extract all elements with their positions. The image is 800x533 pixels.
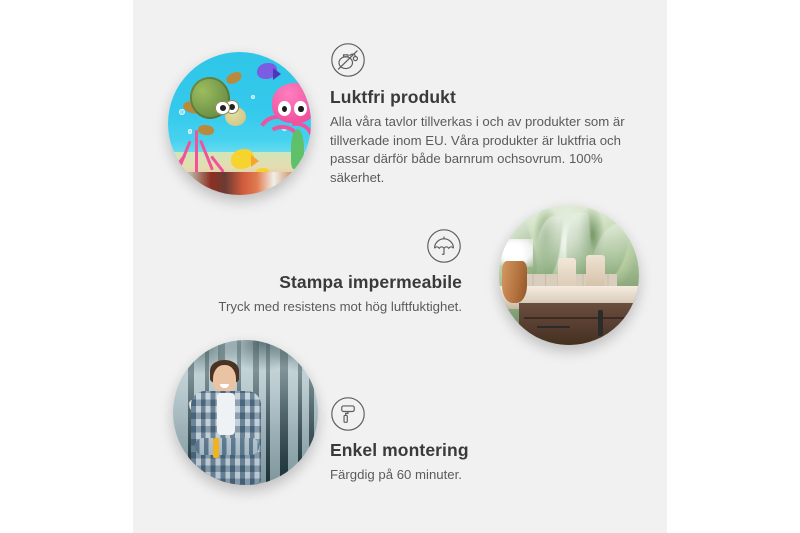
inner-shirt	[217, 393, 235, 435]
feature-body: Alla våra tavlor tillverkas i och av pro…	[330, 113, 632, 187]
tree-trunk	[298, 340, 302, 485]
sea-turtle	[185, 75, 245, 132]
feature-odour-free: Luktfri produkt Alla våra tavlor tillver…	[330, 42, 632, 187]
product-image-ocean	[168, 52, 311, 195]
product-image-bathroom	[499, 205, 639, 345]
ocean-scene	[168, 52, 311, 195]
fish-yellow	[231, 149, 254, 169]
feature-title: Stampa impermeabile	[210, 272, 462, 293]
vanity-seam	[524, 317, 639, 319]
coral	[177, 126, 220, 175]
vanity-handle	[598, 310, 603, 336]
feature-waterproof-print: Stampa impermeabile Tryck med resistens …	[210, 228, 462, 317]
feature-title: Enkel montering	[330, 440, 580, 461]
feature-body: Färgdig på 60 minuter.	[330, 466, 580, 485]
product-image-forest	[173, 340, 318, 485]
seaweed	[291, 129, 304, 169]
fish-blue	[257, 63, 277, 79]
octopus-eye	[278, 101, 291, 116]
room-strip	[168, 172, 311, 195]
tree-trunk	[309, 340, 314, 485]
vase	[502, 261, 527, 303]
umbrella-icon	[210, 228, 462, 264]
paint-roller-icon	[330, 396, 580, 432]
feature-easy-mounting: Enkel montering Färgdig på 60 minuter.	[330, 396, 580, 485]
folded-arms	[195, 438, 260, 455]
feature-title: Luktfri produkt	[330, 87, 632, 108]
installer-person	[188, 360, 278, 485]
hand-tool	[213, 438, 219, 458]
feature-body: Tryck med resistens mot hög luftfuktighe…	[210, 298, 462, 317]
turtle-eye	[215, 101, 229, 115]
promo-banner: Luktfri produkt Alla våra tavlor tillver…	[0, 0, 800, 533]
coral-branch	[195, 130, 199, 175]
bathroom-scene	[499, 205, 639, 345]
tree-trunk	[280, 340, 288, 485]
wood-vanity	[519, 303, 639, 345]
vanity-handle	[537, 326, 570, 328]
no-smell-icon	[330, 42, 632, 78]
forest-scene	[173, 340, 318, 485]
